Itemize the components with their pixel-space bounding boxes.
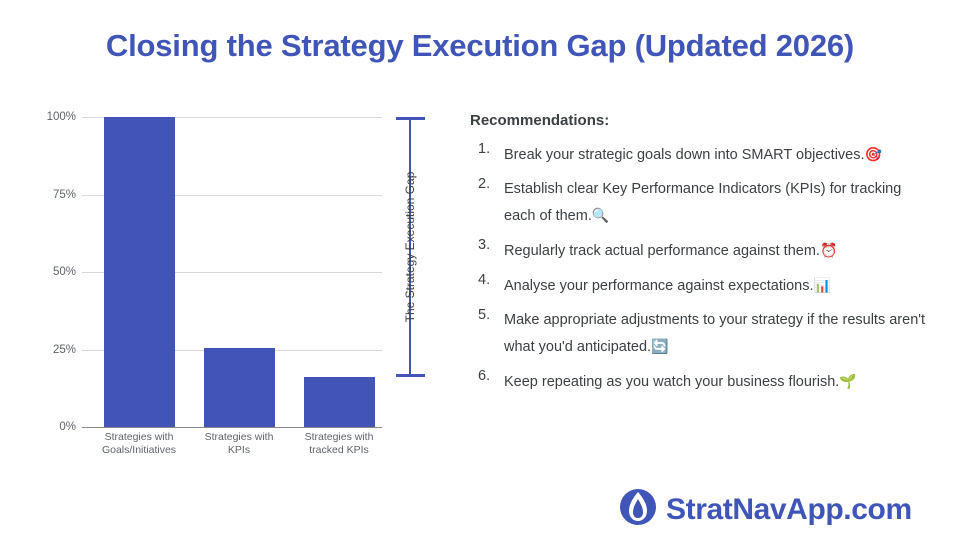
- ytick-label-100: 100%: [47, 111, 76, 123]
- list-item-label: Keep repeating as you watch your busines…: [504, 374, 839, 390]
- xtick-label-0: Strategies with Goals/Initiatives: [84, 431, 194, 457]
- ytick-label-50: 50%: [53, 266, 76, 278]
- ytick-label-25: 25%: [53, 344, 76, 356]
- list-item-number: 6.: [470, 368, 504, 384]
- magnifying-glass-icon: 🔍: [592, 207, 609, 223]
- xtick-label-1: Strategies with KPIs: [184, 431, 294, 457]
- tick-stub-0: [82, 427, 100, 428]
- brand-footer[interactable]: StratNavApp.com: [618, 487, 912, 532]
- strategy-execution-gap-bracket: The Strategy Execution Gap: [393, 117, 427, 377]
- recommendations-panel: Recommendations: 1. Break your strategic…: [470, 112, 930, 403]
- recommendations-heading: Recommendations:: [470, 112, 930, 129]
- xtick-line: Strategies with: [84, 431, 194, 444]
- list-item-label: Establish clear Key Performance Indicato…: [504, 181, 901, 224]
- list-item-number: 1.: [470, 141, 504, 157]
- list-item-number: 5.: [470, 307, 504, 323]
- list-item-text: Make appropriate adjustments to your str…: [504, 307, 930, 360]
- list-item-label: Break your strategic goals down into SMA…: [504, 147, 865, 163]
- slide: Closing the Strategy Execution Gap (Upda…: [0, 0, 960, 540]
- bar-strategies-with-tracked-kpis[interactable]: [304, 377, 375, 427]
- list-item-label: Regularly track actual performance again…: [504, 243, 820, 259]
- bar-strategies-with-goals[interactable]: [104, 117, 175, 427]
- tick-stub-75: [82, 195, 100, 196]
- tick-stub-50: [82, 272, 100, 273]
- list-item-text: Regularly track actual performance again…: [504, 237, 930, 264]
- tick-stub-25: [82, 350, 100, 351]
- xtick-line: Goals/Initiatives: [84, 444, 194, 457]
- list-item: 3. Regularly track actual performance ag…: [470, 237, 930, 264]
- bar-chart-icon: 📊: [814, 277, 831, 293]
- list-item: 2. Establish clear Key Performance Indic…: [470, 176, 930, 229]
- list-item: 4. Analyse your performance against expe…: [470, 272, 930, 299]
- xtick-line: tracked KPIs: [284, 444, 394, 457]
- brand-name: StratNavApp.com: [666, 493, 912, 527]
- xtick-line: Strategies with: [184, 431, 294, 444]
- bracket-label: The Strategy Execution Gap: [403, 117, 417, 377]
- list-item-label: Make appropriate adjustments to your str…: [504, 312, 925, 355]
- chart-plot-area: 100% 75% 50% 25% 0%: [100, 117, 382, 427]
- list-item-text: Establish clear Key Performance Indicato…: [504, 176, 930, 229]
- chart-bars: [100, 117, 382, 427]
- xtick-line: KPIs: [184, 444, 294, 457]
- list-item-text: Keep repeating as you watch your busines…: [504, 368, 930, 395]
- gridline-0: 0%: [100, 427, 382, 428]
- list-item-number: 2.: [470, 176, 504, 192]
- tick-stub-100: [82, 117, 100, 118]
- ytick-label-75: 75%: [53, 189, 76, 201]
- list-item-label: Analyse your performance against expecta…: [504, 278, 814, 294]
- bar-chart: 100% 75% 50% 25% 0%: [18, 98, 450, 473]
- stratnavapp-logo-icon: [618, 487, 658, 532]
- direct-hit-icon: 🎯: [865, 146, 882, 162]
- list-item-number: 4.: [470, 272, 504, 288]
- xtick-line: Strategies with: [284, 431, 394, 444]
- list-item-text: Analyse your performance against expecta…: [504, 272, 930, 299]
- list-item: 5. Make appropriate adjustments to your …: [470, 307, 930, 360]
- alarm-clock-icon: ⏰: [820, 242, 837, 258]
- ytick-label-0: 0%: [59, 421, 76, 433]
- xtick-label-2: Strategies with tracked KPIs: [284, 431, 394, 457]
- list-item-text: Break your strategic goals down into SMA…: [504, 141, 930, 168]
- list-item: 6. Keep repeating as you watch your busi…: [470, 368, 930, 395]
- page-title: Closing the Strategy Execution Gap (Upda…: [0, 28, 960, 64]
- seedling-icon: 🌱: [839, 373, 856, 389]
- list-item-number: 3.: [470, 237, 504, 253]
- list-item: 1. Break your strategic goals down into …: [470, 141, 930, 168]
- bar-strategies-with-kpis[interactable]: [204, 348, 275, 427]
- arrows-counterclockwise-icon: 🔄: [651, 338, 668, 354]
